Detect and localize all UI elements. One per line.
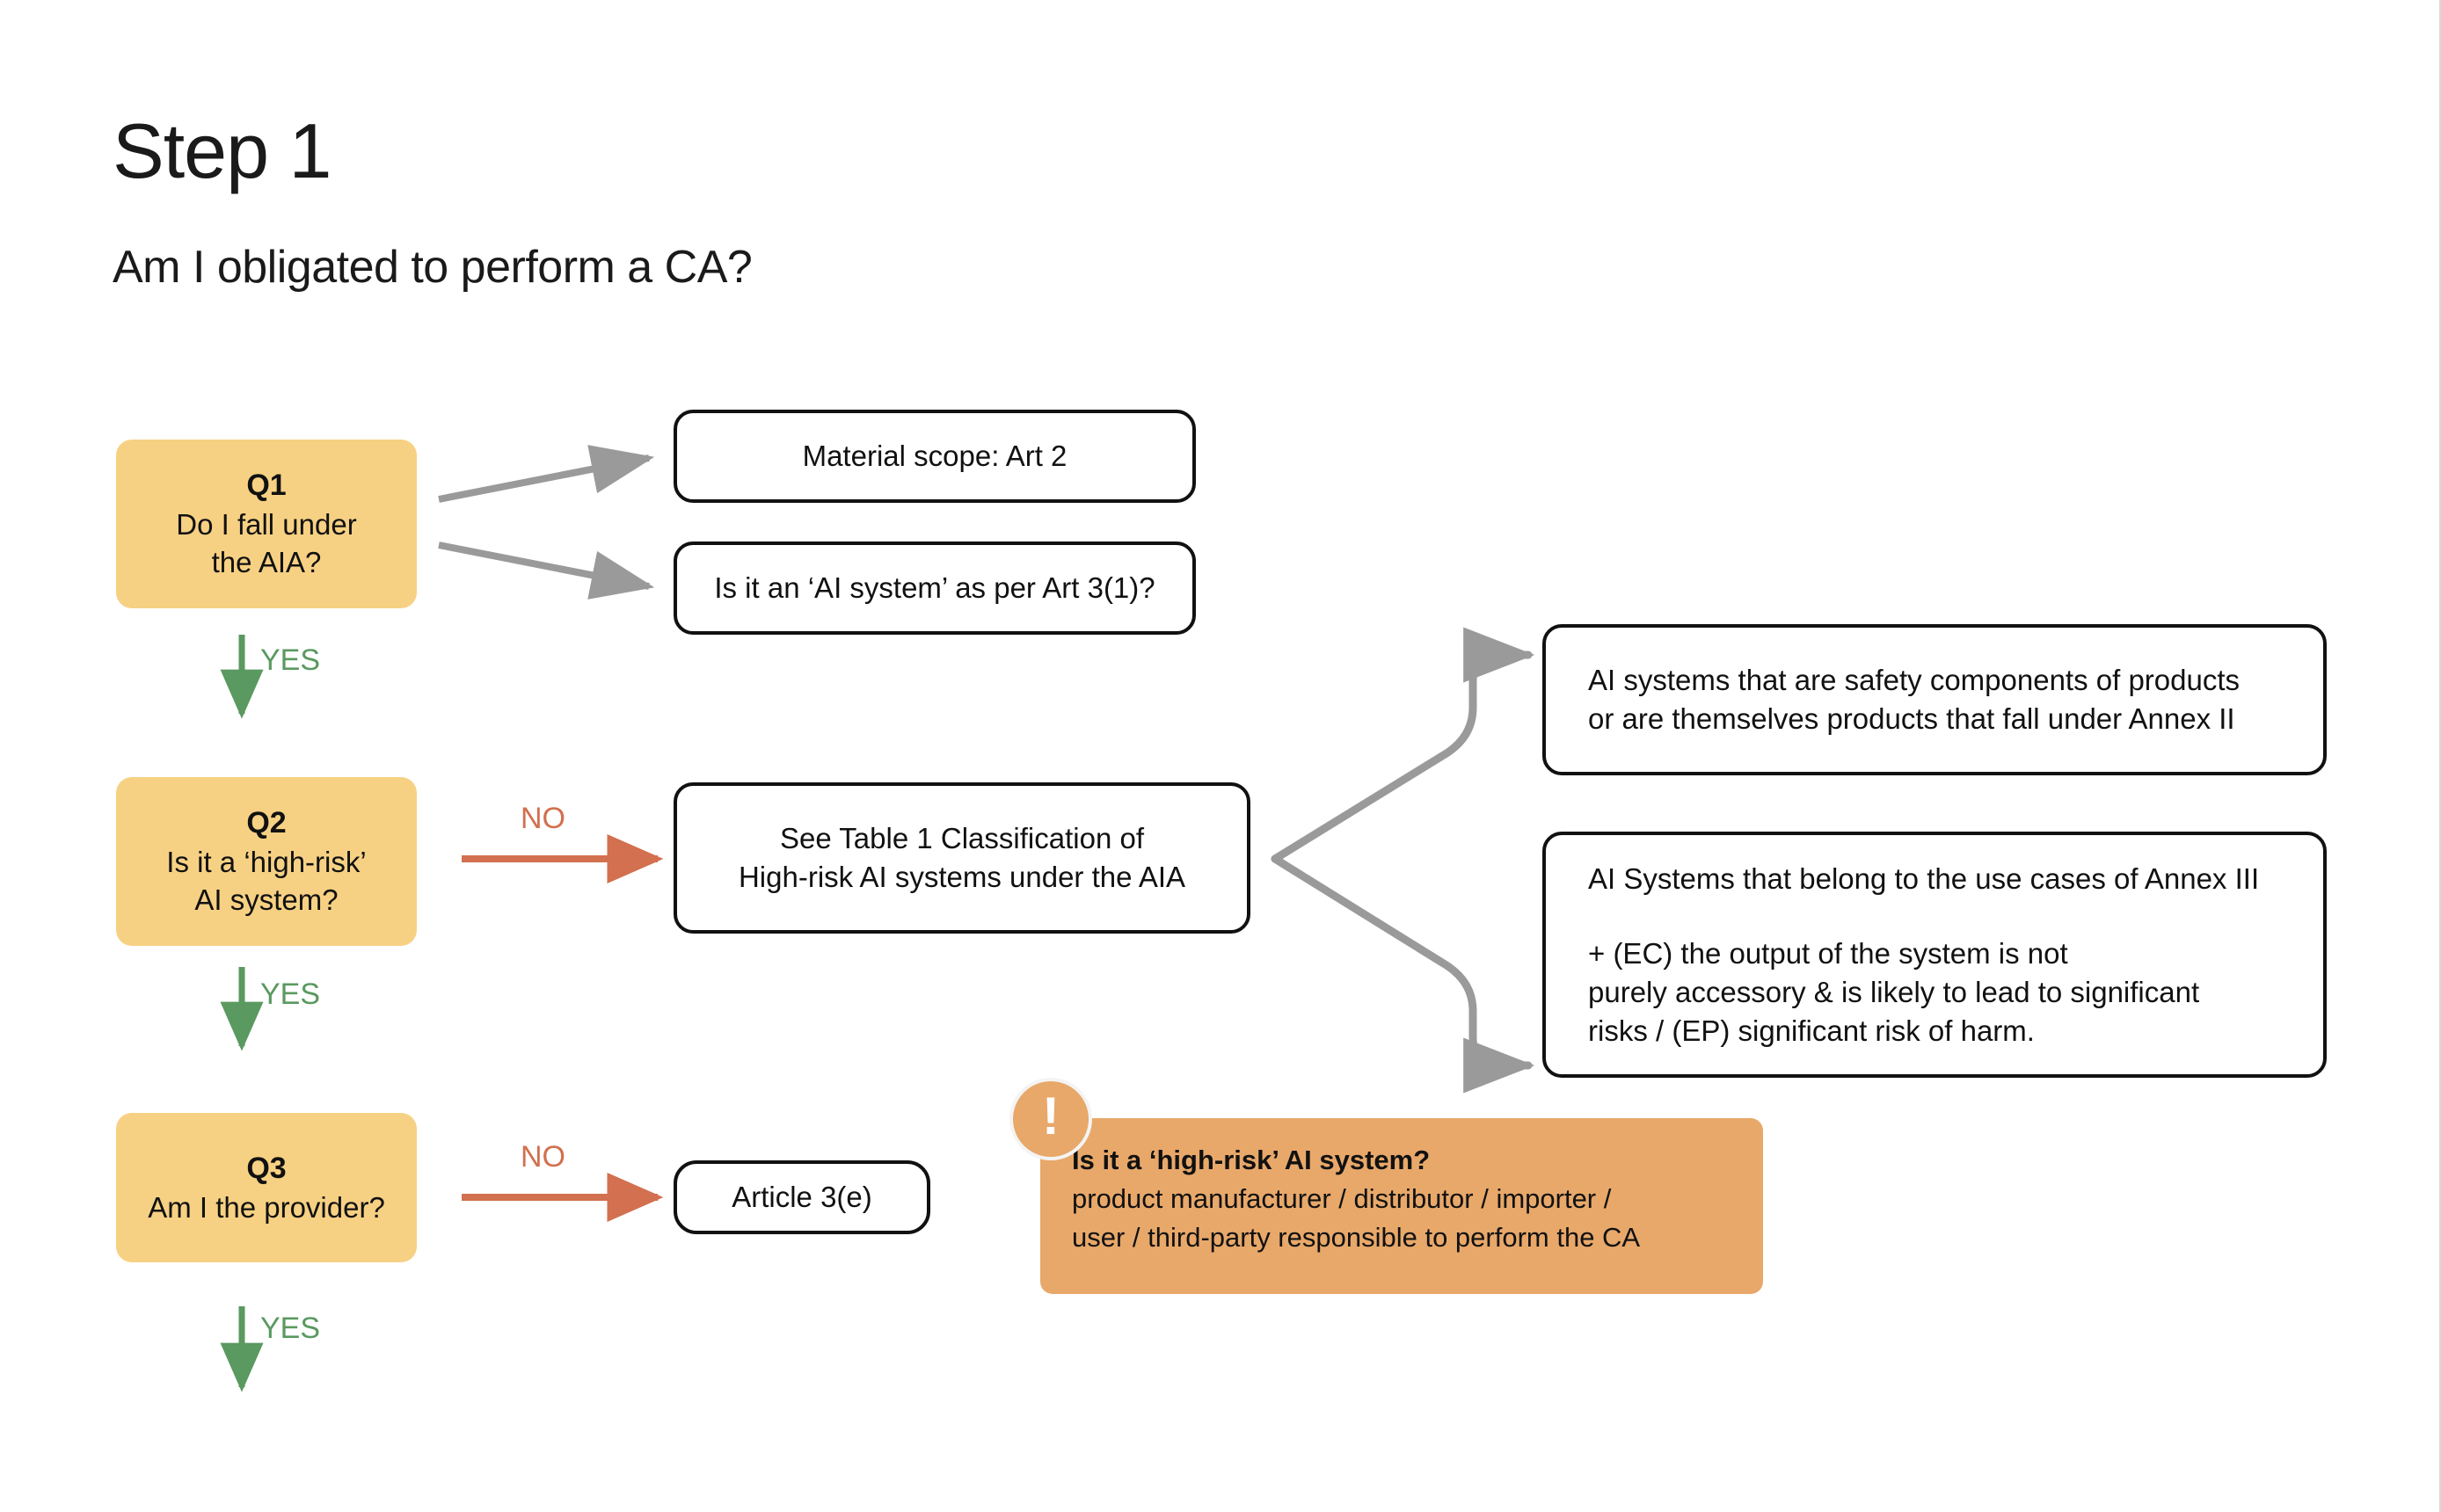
node-annex-ii[interactable]: AI systems that are safety components of… (1542, 624, 2327, 775)
edge-table1-to-annex3 (1275, 859, 1528, 1065)
node-q2-line1: Is it a ‘high-risk’ (166, 843, 366, 882)
callout-heading: Is it a ‘high-risk’ AI system? (1072, 1141, 1733, 1180)
slide-canvas: Step 1 Am I obligated to perform a CA? (0, 0, 2441, 1512)
node-ai-system-definition-text: Is it an ‘AI system’ as per Art 3(1)? (714, 569, 1155, 607)
node-q3-label: Q3 (246, 1149, 286, 1189)
callout-line2: user / third-party responsible to perfor… (1072, 1218, 1733, 1257)
node-q1-label: Q1 (246, 466, 286, 505)
edge-label-q2-q3-yes: YES (260, 978, 320, 1012)
node-annex-ii-line1: AI systems that are safety components of… (1588, 661, 2240, 700)
node-see-table-1[interactable]: See Table 1 Classification of High-risk … (674, 782, 1250, 934)
page-title: Step 1 (113, 113, 331, 190)
node-see-table-1-line1: See Table 1 Classification of (780, 819, 1144, 858)
edge-label-q3-down-yes: YES (260, 1312, 320, 1346)
node-article-3e[interactable]: Article 3(e) (674, 1160, 930, 1234)
edge-label-q1-q2-yes: YES (260, 643, 320, 678)
edge-table1-to-annex2 (1275, 655, 1528, 859)
exclamation-glyph: ! (1042, 1090, 1060, 1143)
edge-q1-to-ai-system-def (439, 545, 649, 586)
node-q3[interactable]: Q3 Am I the provider? (116, 1113, 417, 1262)
node-annex-iii-line3: purely accessory & is likely to lead to … (1588, 973, 2199, 1012)
node-q1-line1: Do I fall under (176, 505, 356, 544)
node-annex-iii[interactable]: AI Systems that belong to the use cases … (1542, 832, 2327, 1078)
exclamation-icon: ! (1009, 1078, 1092, 1160)
node-annex-ii-line2: or are themselves products that fall und… (1588, 700, 2235, 738)
callout-provider-roles[interactable]: Is it a ‘high-risk’ AI system? product m… (1040, 1118, 1763, 1294)
node-q1-line2: the AIA? (212, 543, 322, 582)
page-subtitle: Am I obligated to perform a CA? (113, 244, 752, 290)
edge-q1-to-material-scope (439, 458, 649, 499)
node-article-3e-text: Article 3(e) (732, 1178, 872, 1217)
node-q3-line1: Am I the provider? (148, 1189, 385, 1227)
node-q1[interactable]: Q1 Do I fall under the AIA? (116, 440, 417, 608)
node-annex-iii-line2: + (EC) the output of the system is not (1588, 934, 2068, 973)
node-annex-iii-line1: AI Systems that belong to the use cases … (1588, 860, 2259, 898)
node-material-scope-text: Material scope: Art 2 (803, 437, 1067, 476)
node-material-scope[interactable]: Material scope: Art 2 (674, 410, 1196, 503)
edge-label-q2-table1-no: NO (521, 802, 565, 836)
node-see-table-1-line2: High-risk AI systems under the AIA (739, 858, 1185, 897)
node-q2[interactable]: Q2 Is it a ‘high-risk’ AI system? (116, 777, 417, 946)
callout-line1: product manufacturer / distributor / imp… (1072, 1180, 1733, 1218)
edge-label-q3-article3e-no: NO (521, 1140, 565, 1174)
node-annex-iii-line4: risks / (EP) significant risk of harm. (1588, 1012, 2035, 1050)
node-q2-label: Q2 (246, 803, 286, 843)
node-ai-system-definition[interactable]: Is it an ‘AI system’ as per Art 3(1)? (674, 542, 1196, 635)
node-q2-line2: AI system? (194, 881, 338, 920)
